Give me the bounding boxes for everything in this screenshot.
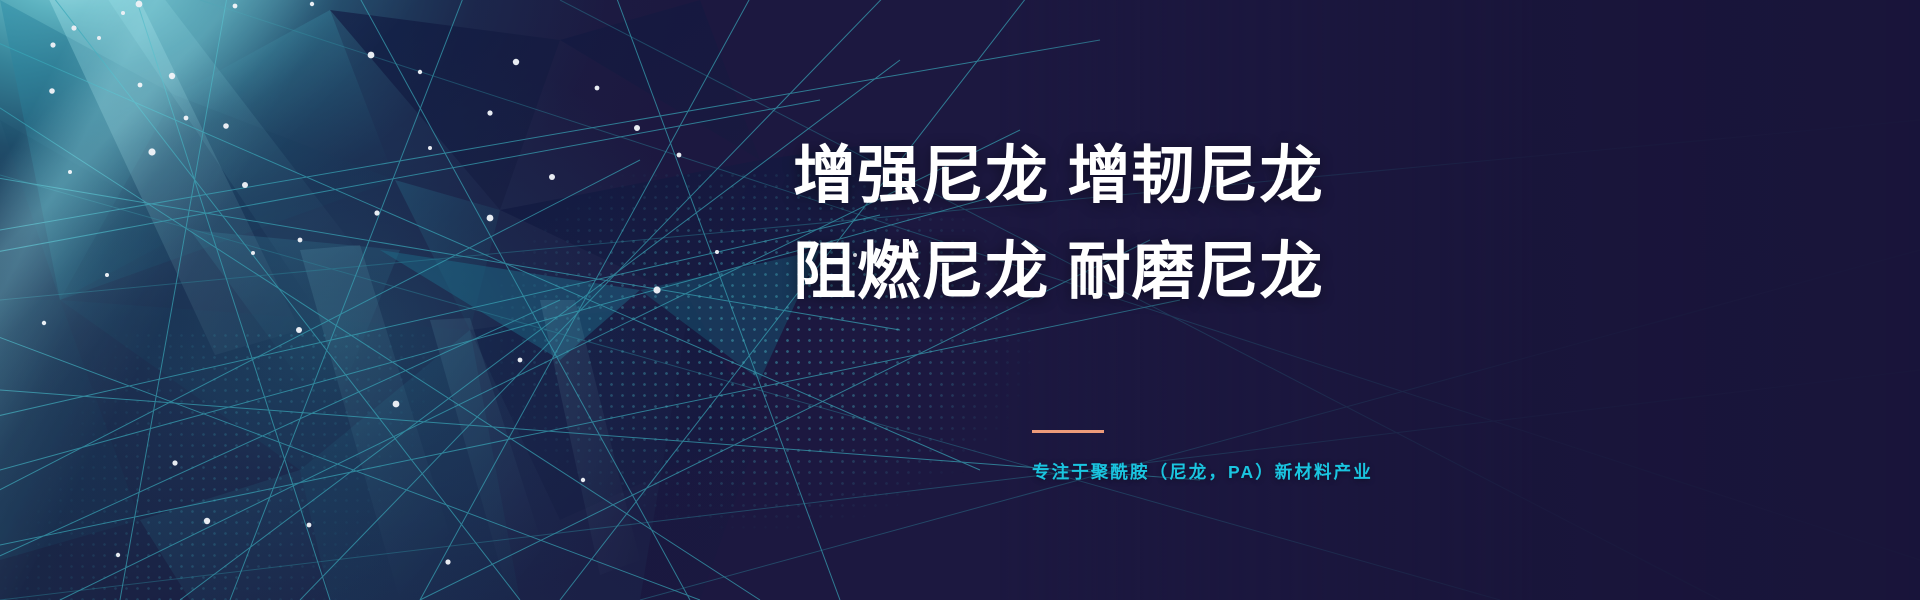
light-shafts xyxy=(40,0,640,600)
network-nodes xyxy=(42,1,857,600)
headline-line-2: 阻燃尼龙 耐磨尼龙 xyxy=(793,224,1324,320)
banner-subtitle-block: 专注于聚酰胺（尼龙，PA）新材料产业 xyxy=(1032,430,1373,484)
banner-content: 增强尼龙 增韧尼龙 阻燃尼龙 耐磨尼龙 专注于聚酰胺（尼龙，PA）新材料产业 xyxy=(793,0,1493,600)
headline-line-1: 增强尼龙 增韧尼龙 xyxy=(793,128,1324,224)
subtitle-divider-rule xyxy=(1032,430,1104,433)
background-halftone-dots-left xyxy=(0,330,430,600)
hero-banner: 增强尼龙 增韧尼龙 阻燃尼龙 耐磨尼龙 专注于聚酰胺（尼龙，PA）新材料产业 xyxy=(0,0,1920,600)
banner-headline: 增强尼龙 增韧尼龙 阻燃尼龙 耐磨尼龙 xyxy=(793,128,1324,320)
banner-subtitle: 专注于聚酰胺（尼龙，PA）新材料产业 xyxy=(1032,459,1373,484)
polygon-shapes xyxy=(0,0,900,600)
